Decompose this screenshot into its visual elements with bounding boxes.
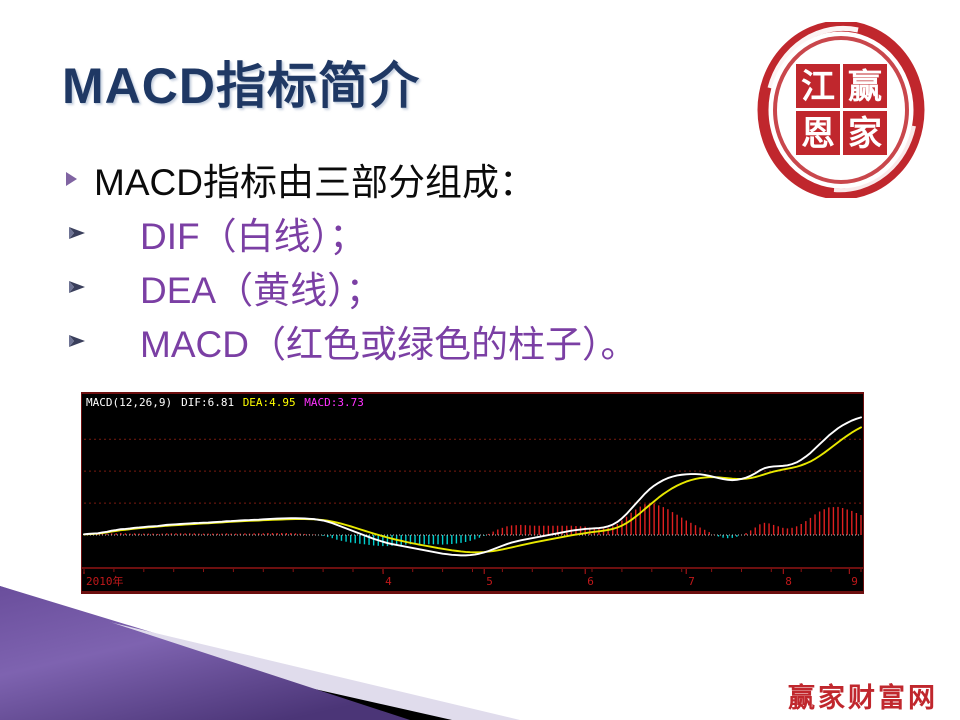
macd-chart: 2010年456789MACD(12,26,9)DIF:6.81DEA:4.95… — [81, 392, 864, 594]
list-item: MACD指标由三部分组成： — [60, 152, 820, 206]
svg-text:5: 5 — [486, 575, 493, 588]
bullet-text-0: MACD指标由三部分组成： — [94, 152, 536, 206]
slide: MACD指标简介 江 赢 恩 — [0, 0, 960, 720]
svg-text:7: 7 — [688, 575, 695, 588]
site-watermark: 赢家财富网 — [788, 676, 938, 715]
svg-text:6: 6 — [587, 575, 594, 588]
list-item: DEA（黄线）； — [60, 260, 820, 314]
bullet-text-1: DIF（白线）； — [140, 206, 366, 260]
seal-char-2: 赢 — [848, 67, 882, 107]
svg-text:2010年: 2010年 — [86, 574, 124, 588]
svg-text:MACD:3.73: MACD:3.73 — [304, 396, 364, 409]
svg-text:4: 4 — [385, 575, 392, 588]
chevron-bullet-icon — [66, 332, 88, 350]
seal-char-3: 恩 — [801, 114, 835, 154]
chevron-bullet-icon — [66, 224, 88, 242]
svg-text:DIF:6.81: DIF:6.81 — [181, 396, 234, 409]
seal-char-1: 江 — [801, 67, 835, 107]
macd-chart-svg: 2010年456789MACD(12,26,9)DIF:6.81DEA:4.95… — [82, 393, 863, 593]
bullet-list: MACD指标由三部分组成： DIF（白线）； DEA（黄线）； — [60, 152, 820, 368]
svg-text:9: 9 — [851, 575, 858, 588]
list-item: DIF（白线）； — [60, 206, 820, 260]
svg-text:MACD(12,26,9): MACD(12,26,9) — [86, 396, 172, 409]
bullet-text-3: MACD（红色或绿色的柱子）。 — [140, 314, 637, 368]
list-item: MACD（红色或绿色的柱子）。 — [60, 314, 820, 368]
chevron-bullet-icon — [66, 278, 88, 296]
triangle-bullet-icon — [60, 170, 82, 188]
seal-char-4: 家 — [848, 114, 882, 154]
svg-text:DEA:4.95: DEA:4.95 — [243, 396, 296, 409]
bullet-text-2: DEA（黄线）； — [140, 260, 383, 314]
svg-text:8: 8 — [785, 575, 792, 588]
page-title: MACD指标简介 — [62, 46, 420, 118]
